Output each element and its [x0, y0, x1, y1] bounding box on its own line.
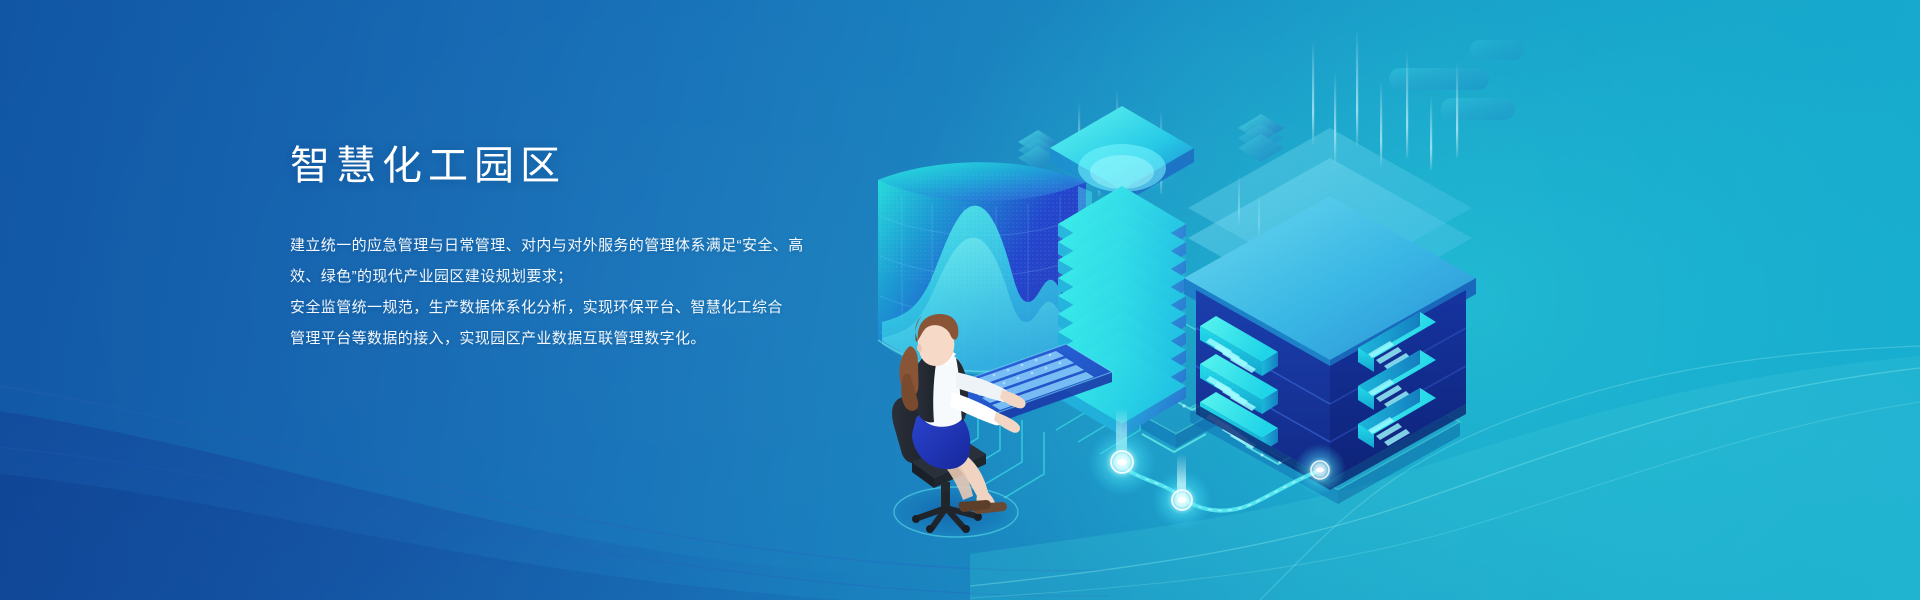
description-line-1: 建立统一的应急管理与日常管理、对内与对外服务的管理体系满足“安全、高 — [290, 230, 910, 261]
hero-copy: 智慧化工园区 建立统一的应急管理与日常管理、对内与对外服务的管理体系满足“安全、… — [290, 146, 910, 354]
page-title: 智慧化工园区 — [290, 146, 910, 186]
cyan-stacked-server-tower — [1050, 106, 1194, 460]
glow-node-tower — [1088, 428, 1156, 496]
description-line-4: 管理平台等数据的接入，实现园区产业数据互联管理数字化。 — [290, 323, 910, 354]
hero-banner: 智慧化工园区 建立统一的应急管理与日常管理、对内与对外服务的管理体系满足“安全、… — [0, 0, 1920, 600]
glow-node-mid — [1152, 454, 1212, 530]
hero-illustration — [860, 10, 1600, 570]
floating-cube-chip-right — [1238, 114, 1284, 162]
hero-description: 建立统一的应急管理与日常管理、对内与对外服务的管理体系满足“安全、高 效、绿色”… — [290, 230, 910, 354]
glow-node-right — [1294, 444, 1346, 496]
description-line-2: 效、绿色”的现代产业园区建设规划要求； — [290, 261, 910, 292]
description-line-3: 安全监管统一规范，生产数据体系化分析，实现环保平台、智慧化工综合 — [290, 292, 910, 323]
